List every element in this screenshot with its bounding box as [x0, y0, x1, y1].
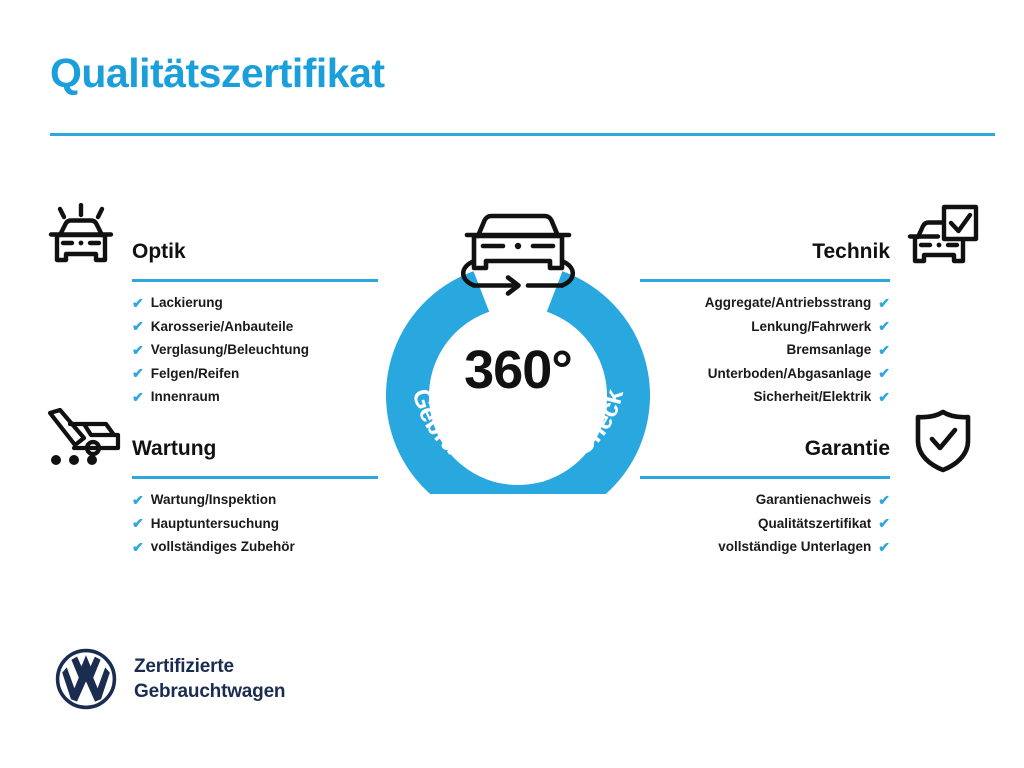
list-item-label: Lackierung: [151, 291, 223, 315]
list-item: Sicherheit/Elektrik✔: [640, 385, 890, 409]
section-header: Wartung: [132, 435, 378, 479]
list-item: Aggregate/Antriebsstrang✔: [640, 291, 890, 315]
section-header: Technik: [640, 238, 890, 282]
checklist-technik: Aggregate/Antriebsstrang✔ Lenkung/Fahrwe…: [640, 291, 890, 409]
section-technik: Technik Aggregate/Antriebsstrang✔ Lenkun…: [640, 238, 890, 409]
check-icon: ✔: [132, 516, 144, 530]
vw-certified-text: Zertifizierte Gebrauchtwagen: [134, 654, 285, 704]
gebrauchtwagen-check-badge: Gebrauchtwagen-Check 360°: [385, 198, 651, 494]
section-divider: [640, 279, 890, 282]
list-item: Lenkung/Fahrwerk✔: [640, 315, 890, 339]
list-item: ✔Innenraum: [132, 385, 378, 409]
check-icon: ✔: [132, 343, 144, 357]
list-item: Garantienachweis✔: [640, 488, 890, 512]
checklist-wartung: ✔Wartung/Inspektion ✔Hauptuntersuchung ✔…: [132, 488, 378, 559]
list-item: ✔Karosserie/Anbauteile: [132, 315, 378, 339]
list-item-label: Wartung/Inspektion: [151, 488, 277, 512]
car-checkbox-icon: [906, 203, 980, 276]
check-icon: ✔: [878, 540, 890, 554]
vw-text-line1: Zertifizierte: [134, 654, 285, 679]
list-item-label: Innenraum: [151, 385, 220, 409]
section-header: Garantie: [640, 435, 890, 479]
list-item: ✔Felgen/Reifen: [132, 362, 378, 386]
list-item-label: Verglasung/Beleuchtung: [151, 338, 309, 362]
list-item: Bremsanlage✔: [640, 338, 890, 362]
list-item-label: Karosserie/Anbauteile: [151, 315, 294, 339]
vw-certified-footer: Zertifizierte Gebrauchtwagen: [55, 648, 285, 710]
check-icon: ✔: [132, 296, 144, 310]
section-title: Wartung: [132, 435, 378, 463]
check-icon: ✔: [132, 390, 144, 404]
check-icon: ✔: [878, 296, 890, 310]
list-item: ✔Wartung/Inspektion: [132, 488, 378, 512]
page-title: Qualitätszertifikat: [50, 52, 385, 95]
vw-text-line2: Gebrauchtwagen: [134, 679, 285, 704]
section-title: Optik: [132, 238, 378, 266]
list-item-label: Hauptuntersuchung: [151, 512, 279, 536]
section-header: Optik: [132, 238, 378, 282]
check-icon: ✔: [132, 540, 144, 554]
section-divider: [132, 476, 378, 479]
section-optik: Optik ✔Lackierung ✔Karosserie/Anbauteile…: [132, 238, 378, 409]
car-rotate-icon: [463, 216, 573, 294]
list-item-label: Bremsanlage: [786, 338, 871, 362]
check-icon: ✔: [132, 319, 144, 333]
section-title: Technik: [640, 238, 890, 266]
list-item-label: vollständiges Zubehör: [151, 535, 295, 559]
section-title: Garantie: [640, 435, 890, 463]
list-item: ✔Verglasung/Beleuchtung: [132, 338, 378, 362]
title-divider: [50, 133, 995, 136]
car-service-tool-icon: [44, 408, 124, 475]
section-garantie: Garantie Garantienachweis✔ Qualitätszert…: [640, 435, 890, 559]
check-icon: ✔: [878, 390, 890, 404]
list-item: ✔Hauptuntersuchung: [132, 512, 378, 536]
check-icon: ✔: [878, 343, 890, 357]
checklist-garantie: Garantienachweis✔ Qualitätszertifikat✔ v…: [640, 488, 890, 559]
check-icon: ✔: [132, 493, 144, 507]
check-icon: ✔: [132, 366, 144, 380]
list-item-label: Qualitätszertifikat: [758, 512, 871, 536]
list-item: ✔vollständiges Zubehör: [132, 535, 378, 559]
check-icon: ✔: [878, 493, 890, 507]
check-icon: ✔: [878, 366, 890, 380]
list-item: vollständige Unterlagen✔: [640, 535, 890, 559]
check-icon: ✔: [878, 516, 890, 530]
section-divider: [132, 279, 378, 282]
list-item: ✔Lackierung: [132, 291, 378, 315]
list-item-label: Lenkung/Fahrwerk: [751, 315, 871, 339]
list-item-label: Unterboden/Abgasanlage: [708, 362, 872, 386]
car-shine-icon: [44, 203, 118, 278]
shield-check-icon: [912, 408, 974, 479]
list-item: Unterboden/Abgasanlage✔: [640, 362, 890, 386]
vw-logo: [55, 648, 117, 710]
checklist-optik: ✔Lackierung ✔Karosserie/Anbauteile ✔Verg…: [132, 291, 378, 409]
list-item-label: Sicherheit/Elektrik: [753, 385, 871, 409]
list-item-label: vollständige Unterlagen: [718, 535, 871, 559]
list-item: Qualitätszertifikat✔: [640, 512, 890, 536]
list-item-label: Felgen/Reifen: [151, 362, 240, 386]
list-item-label: Aggregate/Antriebsstrang: [705, 291, 872, 315]
section-wartung: Wartung ✔Wartung/Inspektion ✔Hauptunters…: [132, 435, 378, 559]
check-icon: ✔: [878, 319, 890, 333]
list-item-label: Garantienachweis: [756, 488, 872, 512]
section-divider: [640, 476, 890, 479]
